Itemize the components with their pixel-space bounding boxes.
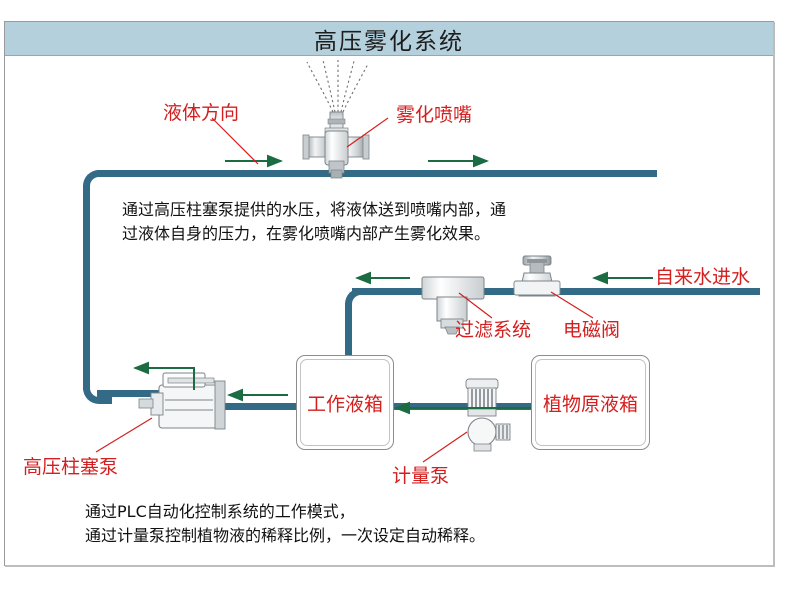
plant-stock-tank-label: 植物原液箱 <box>532 389 649 416</box>
working-liquid-tank-label: 工作液箱 <box>297 389 393 416</box>
label-atomizing-nozzle: 雾化喷嘴 <box>396 100 472 127</box>
description-top: 通过高压柱塞泵提供的水压，将液体送到喷嘴内部，通 过液体自身的压力，在雾化喷嘴内… <box>122 198 622 246</box>
pipe-pump-inlet <box>97 390 159 397</box>
page-title: 高压雾化系统 <box>314 22 464 56</box>
label-tap-water-inlet: 自来水进水 <box>655 262 750 289</box>
label-liquid-direction: 液体方向 <box>163 98 239 125</box>
label-high-pressure-plunger-pump: 高压柱塞泵 <box>23 452 118 479</box>
diagram-canvas: 高压雾化系统 <box>0 0 787 590</box>
working-liquid-tank[interactable]: 工作液箱 <box>296 355 394 450</box>
pipe-top-main <box>97 170 657 177</box>
pipe-left-riser <box>83 185 90 390</box>
plant-stock-tank[interactable]: 植物原液箱 <box>531 355 650 450</box>
label-filter-system: 过滤系统 <box>455 315 531 342</box>
description-bottom: 通过PLC自动化控制系统的工作模式， 通过计量泵控制植物液的稀释比例，一次设定自… <box>85 500 645 548</box>
title-bar: 高压雾化系统 <box>5 22 773 56</box>
pipe-water-inlet <box>430 288 760 295</box>
label-metering-pump: 计量泵 <box>392 461 449 488</box>
label-solenoid-valve: 电磁阀 <box>563 315 620 342</box>
